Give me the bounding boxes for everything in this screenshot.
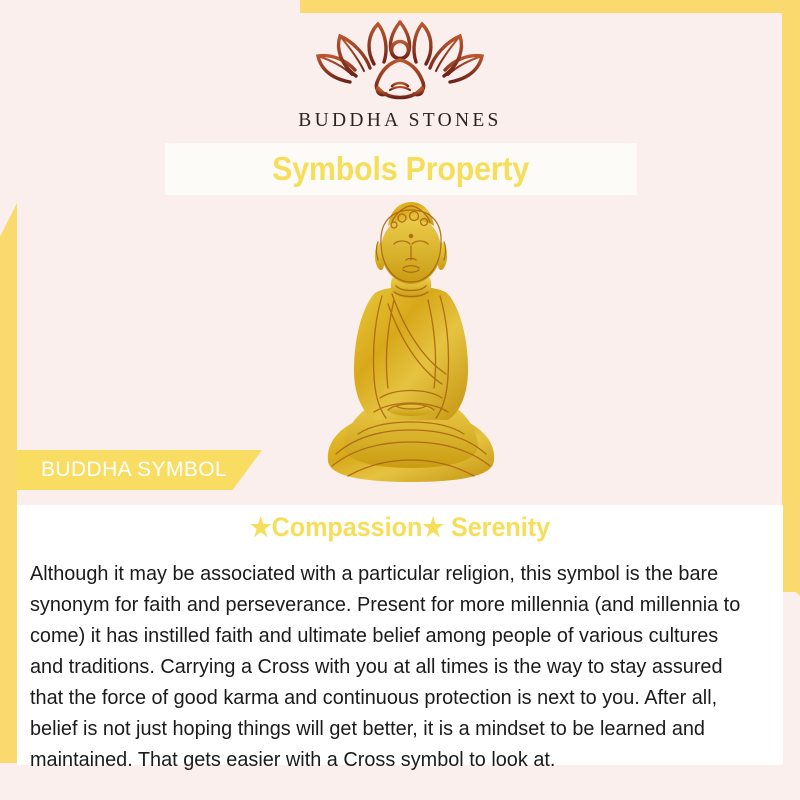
- brand-logo: BUDDHA STONES: [0, 16, 800, 132]
- golden-buddha-illustration: [318, 198, 504, 490]
- lotus-meditation-figure-icon: [312, 16, 488, 108]
- star-icon-2: ★: [422, 512, 444, 542]
- brand-name: BUDDHA STONES: [298, 110, 501, 132]
- section-ribbon: BUDDHA SYMBOL: [17, 450, 262, 490]
- decor-top-bar: [300, 0, 800, 13]
- title-band: Symbols Property: [165, 143, 637, 195]
- body-paragraph: Although it may be associated with a par…: [30, 558, 749, 775]
- ribbon-label: BUDDHA SYMBOL: [41, 458, 227, 482]
- decor-left-bar: [0, 203, 17, 763]
- poster-canvas: BUDDHA STONES Symbols Property: [0, 0, 800, 800]
- star-icon-1: ★: [250, 512, 272, 542]
- content-subtitle: ★Compassion★ Serenity: [28, 512, 772, 543]
- page-title: Symbols Property: [273, 150, 530, 188]
- subtitle-word-compassion: Compassion: [272, 512, 423, 542]
- subtitle-word-serenity: Serenity: [451, 512, 550, 542]
